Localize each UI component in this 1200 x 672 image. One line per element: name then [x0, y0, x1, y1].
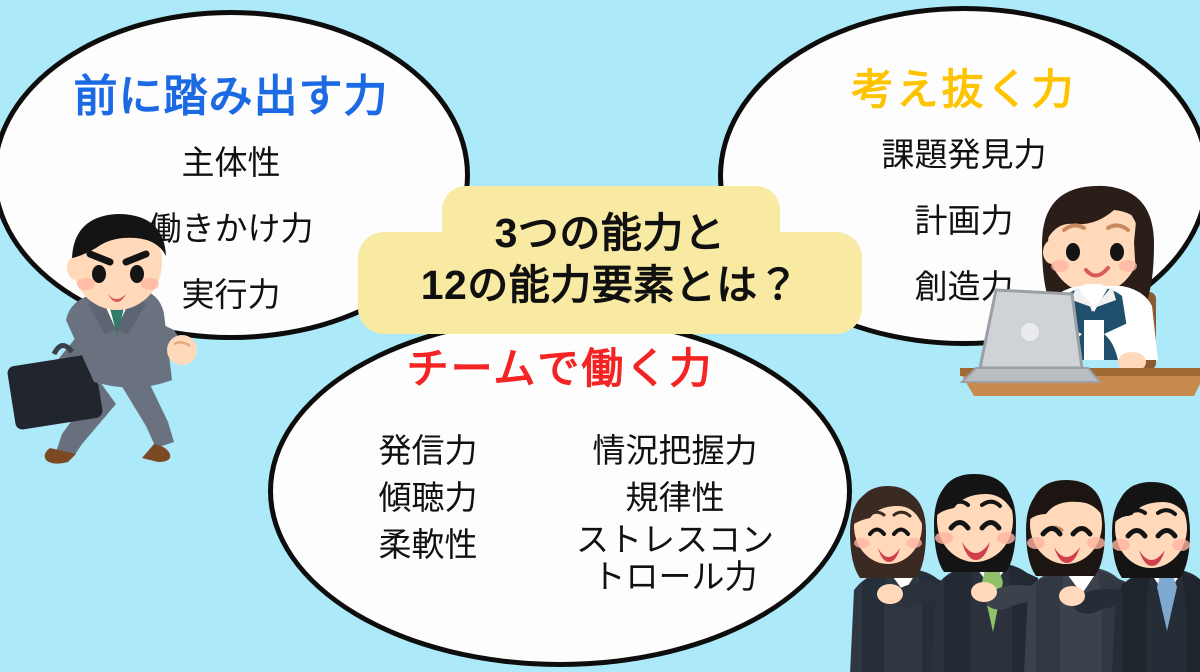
bubble-left-item-0: 主体性 [0, 141, 465, 185]
bubble-bottom-left-item-2: 柔軟性 [334, 522, 522, 569]
infographic-canvas: 前に踏み出す力 主体性 働きかけ力 実行力 考え抜く力 課題発見力 計画力 創造… [0, 0, 1200, 672]
bubble-bottom-columns: 発信力 傾聴力 柔軟性 情況把握力 規律性 ストレスコン トロール力 [273, 428, 847, 596]
center-badge-text: 3つの能力と 12の能力要素とは？ [358, 186, 862, 334]
bubble-bottom-right-item-1: 規律性 [564, 475, 786, 522]
bubble-bottom-title: チームで働く力 [273, 348, 847, 390]
bubble-bottom-content: チームで働く力 発信力 傾聴力 柔軟性 情況把握力 規律性 ストレスコン トロー… [273, 320, 847, 596]
bubble-bottom-right-item-0: 情況把握力 [564, 428, 786, 475]
bubble-right-item-0: 課題発見力 [723, 133, 1200, 177]
bubble-bottom-left-item-0: 発信力 [334, 428, 522, 475]
center-badge-line-1: 3つの能力と [495, 208, 726, 260]
center-badge-line-2: 12の能力要素とは？ [421, 260, 800, 312]
bubble-bottom-right-item-2-line-a: ストレスコン [564, 522, 786, 559]
running-businessman-illustration [4, 212, 226, 474]
center-question-badge: 3つの能力と 12の能力要素とは？ [358, 186, 862, 334]
bubble-right-title: 考え抜く力 [723, 69, 1200, 111]
team-of-four-illustration [832, 442, 1200, 672]
bubble-bottom-column-right: 情況把握力 規律性 ストレスコン トロール力 [564, 428, 786, 596]
bubble-work-in-team: チームで働く力 発信力 傾聴力 柔軟性 情況把握力 規律性 ストレスコン トロー… [268, 315, 852, 667]
woman-at-laptop-illustration [960, 172, 1200, 404]
bubble-bottom-right-item-2: ストレスコン トロール力 [564, 522, 786, 596]
bubble-left-title: 前に踏み出す力 [0, 75, 465, 119]
bubble-bottom-right-item-2-line-b: トロール力 [564, 559, 786, 596]
bubble-bottom-column-left: 発信力 傾聴力 柔軟性 [334, 428, 522, 596]
bubble-bottom-left-item-1: 傾聴力 [334, 475, 522, 522]
